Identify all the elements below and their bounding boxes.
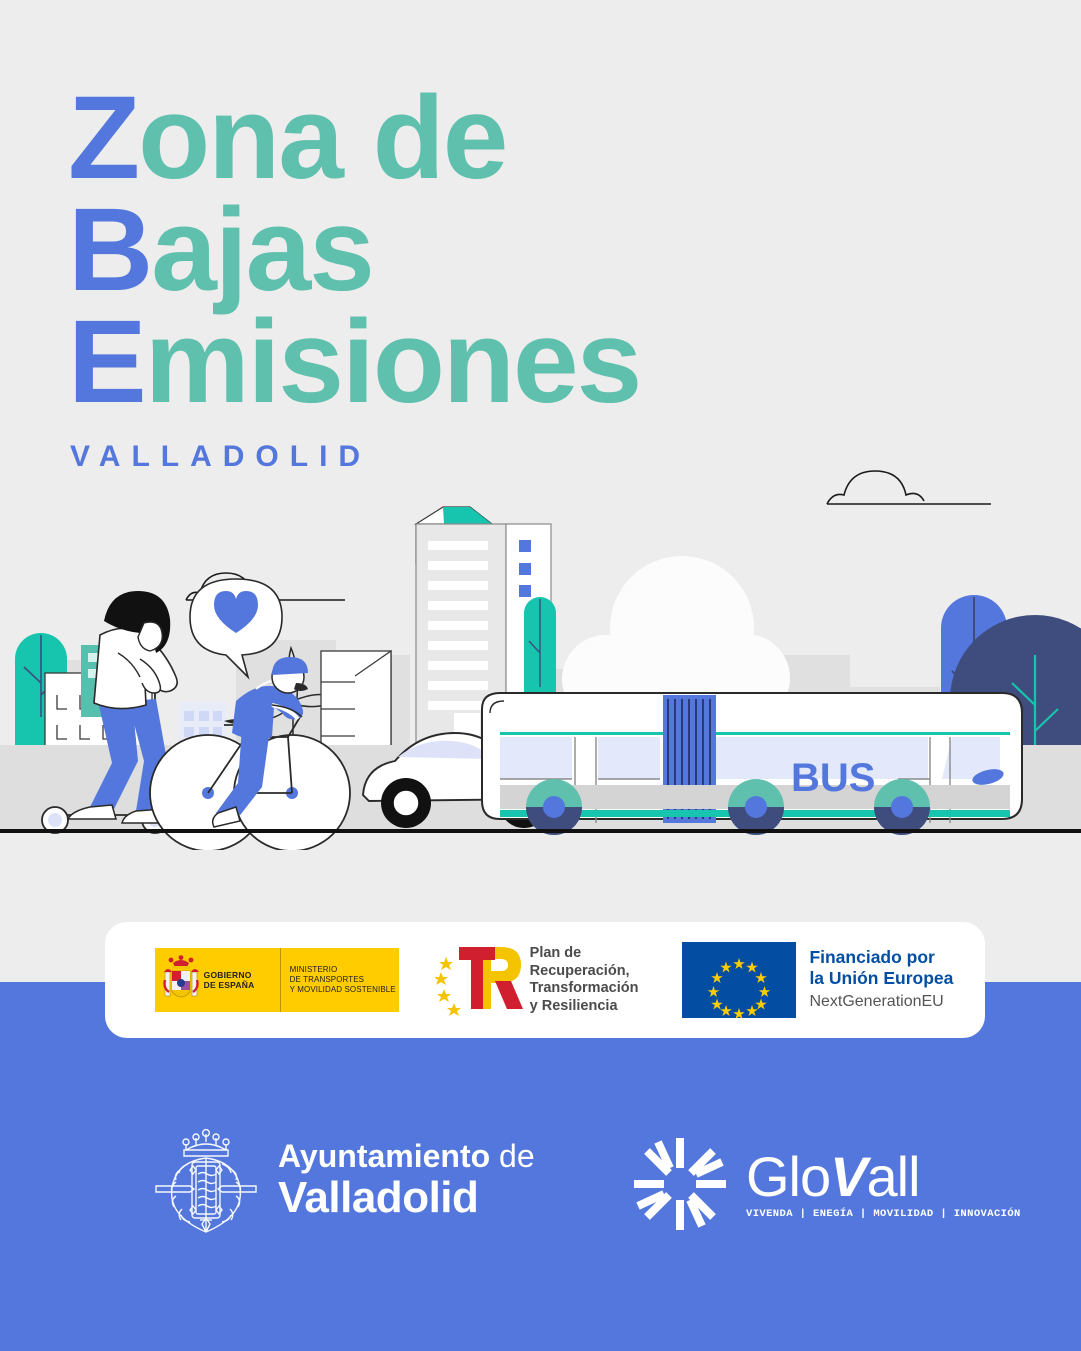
headline-line-2: Bajas — [68, 194, 968, 306]
eu-line2: la Unión Europea — [809, 968, 953, 989]
city-illustration: BUS — [0, 455, 1081, 850]
glovall-glo: Glo — [746, 1145, 830, 1208]
valladolid-coat-of-arms-icon — [150, 1124, 262, 1236]
ground-line — [0, 829, 1081, 833]
poster-root: Zona de Bajas Emisiones VALLADOLID — [0, 0, 1081, 1351]
gobierno-line1: GOBIERNO — [204, 970, 255, 980]
ayuntamiento-line1: Ayuntamiento de — [278, 1138, 535, 1174]
bus-label: BUS — [791, 756, 875, 800]
eu-line1: Financiado por — [809, 947, 953, 968]
glovall-v: V — [830, 1145, 866, 1208]
ayuntamiento-text: Ayuntamiento de Valladolid — [278, 1138, 535, 1222]
glovall-text: GloVall VIVENDA | ENEGÍA | MOVILIDAD | I… — [746, 1148, 1021, 1220]
gobierno-line2: DE ESPAÑA — [204, 980, 255, 990]
eu-text: Financiado por la Unión Europea NextGene… — [809, 947, 953, 1013]
eu-nextgeneration: NextGenerationEU — [809, 991, 953, 1013]
ministerio-line1: MINISTERIO — [290, 965, 396, 975]
funding-logos-card: GOBIERNO DE ESPAÑA MINISTERIO DE TRANSPO… — [105, 922, 985, 1038]
ayuntamiento-de: de — [499, 1138, 535, 1174]
ministerio-line3: Y MOVILIDAD SOSTENIBLE — [290, 985, 396, 995]
glovall-logo: GloVall VIVENDA | ENEGÍA | MOVILIDAD | I… — [628, 1132, 1021, 1236]
gobierno-de-espana-logo: GOBIERNO DE ESPAÑA MINISTERIO DE TRANSPO… — [137, 948, 399, 1012]
page-title: Zona de Bajas Emisiones — [68, 82, 968, 418]
plan-recuperacion-logo: Plan de Recuperación, Transformación y R… — [435, 943, 639, 1017]
prtr-line1: Plan de — [530, 945, 639, 963]
glovall-wordmark: GloVall — [746, 1148, 1021, 1206]
headline-initial-e: E — [68, 296, 145, 428]
headline-line-1: Zona de — [68, 82, 968, 194]
bus: BUS — [482, 693, 1022, 835]
ayuntamiento-word: Ayuntamiento — [278, 1138, 490, 1174]
ayuntamiento-valladolid-logo: Ayuntamiento de Valladolid — [150, 1124, 535, 1236]
prtr-mark-icon — [435, 943, 523, 1017]
prtr-line2: Recuperación, — [530, 963, 639, 981]
prtr-line3: Transformación — [530, 980, 639, 998]
headline-line-3: Emisiones — [68, 306, 968, 418]
headline-rest-3: misiones — [145, 296, 641, 428]
glovall-all: all — [867, 1145, 920, 1208]
cloud-icon — [827, 471, 991, 504]
ministerio-text: MINISTERIO DE TRANSPORTES Y MOVILIDAD SO… — [290, 965, 396, 995]
glovall-tagline: VIVENDA | ENEGÍA | MOVILIDAD | INNOVACIÓ… — [746, 1208, 1021, 1220]
prtr-text: Plan de Recuperación, Transformación y R… — [530, 945, 639, 1015]
ministerio-line2: DE TRANSPORTES — [290, 975, 396, 985]
eu-flag-icon — [682, 942, 796, 1018]
spain-coat-of-arms-icon — [163, 954, 199, 1006]
tree-teal-center — [524, 597, 556, 707]
valladolid-word: Valladolid — [278, 1174, 535, 1222]
gobierno-text: GOBIERNO DE ESPAÑA — [204, 970, 255, 990]
glovall-burst-icon — [628, 1132, 732, 1236]
eu-funding-logo: Financiado por la Unión Europea NextGene… — [682, 942, 953, 1018]
prtr-line4: y Resiliencia — [530, 998, 639, 1016]
